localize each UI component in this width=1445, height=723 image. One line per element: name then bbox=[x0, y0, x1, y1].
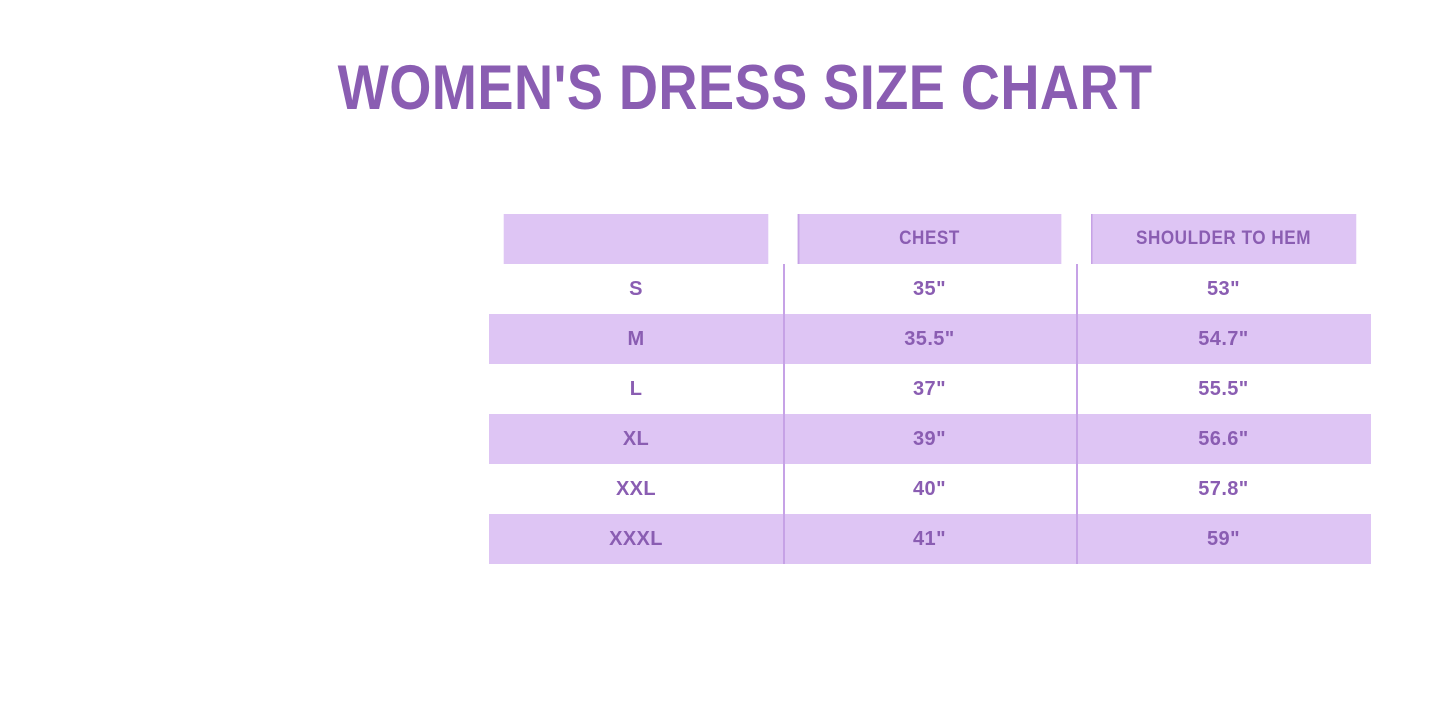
cell-size-value: XXXL bbox=[489, 514, 783, 564]
cell-shoulder-to-hem: 55.5" bbox=[1076, 364, 1371, 414]
cell-chest-value: 35" bbox=[783, 264, 1076, 314]
cell-size-value: L bbox=[489, 364, 783, 414]
table-header-row: CHEST SHOULDER TO HEM bbox=[489, 214, 1371, 264]
cell-shoulder-to-hem-value: 54.7" bbox=[1076, 314, 1371, 364]
column-header-chest: CHEST bbox=[798, 214, 1062, 264]
column-header-chest-label: CHEST bbox=[798, 214, 1062, 264]
cell-chest-value: 39" bbox=[783, 414, 1076, 464]
cell-shoulder-to-hem: 54.7" bbox=[1076, 314, 1371, 364]
cell-shoulder-to-hem: 57.8" bbox=[1076, 464, 1371, 514]
table-row: S 35" 53" bbox=[489, 264, 1371, 314]
page-title: WOMEN'S DRESS SIZE CHART bbox=[124, 52, 1367, 124]
column-header-shoulder-to-hem: SHOULDER TO HEM bbox=[1091, 214, 1357, 264]
cell-shoulder-to-hem-value: 55.5" bbox=[1076, 364, 1371, 414]
cell-shoulder-to-hem-value: 56.6" bbox=[1076, 414, 1371, 464]
cell-shoulder-to-hem-value: 59" bbox=[1076, 514, 1371, 564]
cell-size-value: S bbox=[489, 264, 783, 314]
size-chart-table: CHEST SHOULDER TO HEM S 35" 53" bbox=[489, 214, 1371, 564]
cell-size-value: M bbox=[489, 314, 783, 364]
cell-shoulder-to-hem: 53" bbox=[1076, 264, 1371, 314]
cell-size: S bbox=[489, 264, 783, 314]
column-header-size bbox=[504, 214, 769, 264]
table-body: S 35" 53" M 35.5" bbox=[489, 264, 1371, 564]
cell-chest-value: 37" bbox=[783, 364, 1076, 414]
cell-size: XL bbox=[489, 414, 783, 464]
cell-size: M bbox=[489, 314, 783, 364]
cell-shoulder-to-hem: 56.6" bbox=[1076, 414, 1371, 464]
cell-size: L bbox=[489, 364, 783, 414]
cell-size: XXXL bbox=[489, 514, 783, 564]
cell-chest-value: 41" bbox=[783, 514, 1076, 564]
cell-size-value: XXL bbox=[489, 464, 783, 514]
table-row: M 35.5" 54.7" bbox=[489, 314, 1371, 364]
cell-chest: 35" bbox=[783, 264, 1076, 314]
cell-shoulder-to-hem-value: 53" bbox=[1076, 264, 1371, 314]
cell-chest: 41" bbox=[783, 514, 1076, 564]
table-row: L 37" 55.5" bbox=[489, 364, 1371, 414]
size-chart-table-container: CHEST SHOULDER TO HEM S 35" 53" bbox=[489, 214, 1371, 564]
cell-chest: 35.5" bbox=[783, 314, 1076, 364]
cell-chest-value: 35.5" bbox=[783, 314, 1076, 364]
cell-chest: 39" bbox=[783, 414, 1076, 464]
cell-chest-value: 40" bbox=[783, 464, 1076, 514]
cell-shoulder-to-hem-value: 57.8" bbox=[1076, 464, 1371, 514]
size-chart-page: WOMEN'S DRESS SIZE CHART CHEST SHOULDER … bbox=[0, 0, 1445, 723]
cell-chest: 37" bbox=[783, 364, 1076, 414]
cell-chest: 40" bbox=[783, 464, 1076, 514]
cell-shoulder-to-hem: 59" bbox=[1076, 514, 1371, 564]
table-row: XXXL 41" 59" bbox=[489, 514, 1371, 564]
table-row: XXL 40" 57.8" bbox=[489, 464, 1371, 514]
table-header: CHEST SHOULDER TO HEM bbox=[489, 214, 1371, 264]
table-row: XL 39" 56.6" bbox=[489, 414, 1371, 464]
column-header-shoulder-to-hem-label: SHOULDER TO HEM bbox=[1091, 214, 1357, 264]
cell-size-value: XL bbox=[489, 414, 783, 464]
cell-size: XXL bbox=[489, 464, 783, 514]
